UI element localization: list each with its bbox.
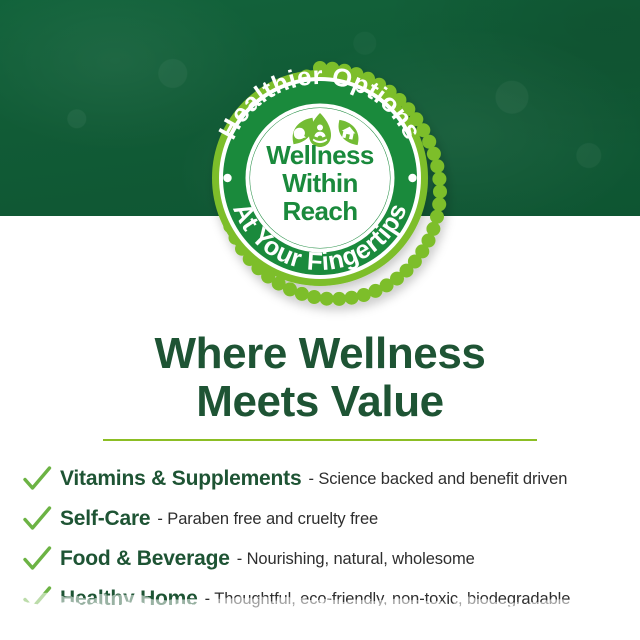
check-icon bbox=[22, 464, 52, 494]
benefit-description: - Science backed and benefit driven bbox=[308, 470, 567, 489]
badge-dot-right bbox=[408, 174, 416, 182]
check-icon bbox=[22, 504, 52, 534]
badge-dot-left bbox=[223, 174, 231, 182]
benefit-title: Vitamins & Supplements bbox=[60, 467, 301, 491]
badge-center-line-2: Within bbox=[282, 168, 358, 198]
list-item: Self-Care - Paraben free and cruelty fre… bbox=[0, 499, 640, 539]
promo-poster: Healthier Options At Your Fingertips bbox=[0, 0, 640, 640]
list-item: Vitamins & Supplements - Science backed … bbox=[0, 459, 640, 499]
headline-line-1: Where Wellness bbox=[154, 329, 485, 378]
section-divider bbox=[103, 439, 537, 441]
benefit-title: Self-Care bbox=[60, 507, 150, 531]
benefit-title: Food & Beverage bbox=[60, 547, 230, 571]
page-title: Where Wellness Meets Value bbox=[0, 330, 640, 426]
badge-center-line-3: Reach bbox=[282, 196, 357, 226]
benefit-description: - Nourishing, natural, wholesome bbox=[237, 550, 475, 569]
benefit-description: - Paraben free and cruelty free bbox=[157, 510, 378, 529]
badge-center-line-1: Wellness bbox=[266, 140, 374, 170]
wellness-badge-seal: Healthier Options At Your Fingertips bbox=[199, 58, 441, 290]
torn-paper-edge bbox=[0, 570, 640, 640]
headline-line-2: Meets Value bbox=[0, 378, 640, 426]
